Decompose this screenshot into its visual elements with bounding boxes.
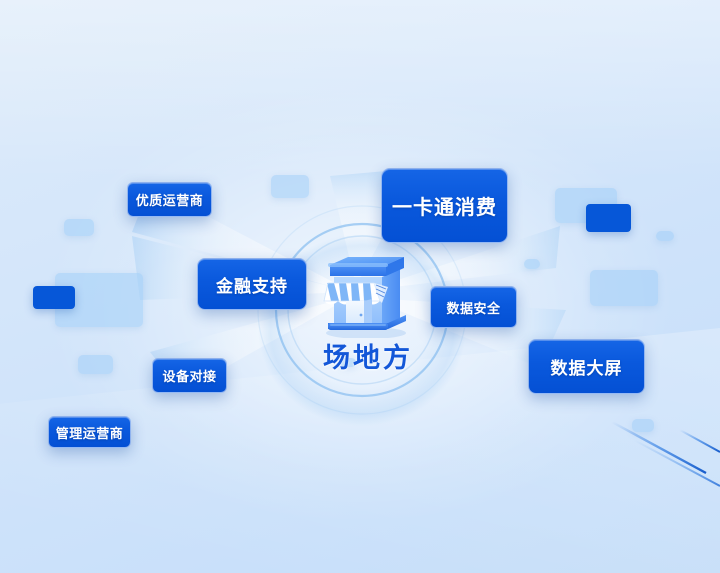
storefront-icon — [312, 243, 420, 338]
deco-rect-pale-6 — [656, 231, 674, 241]
deco-rect-pale-9 — [632, 419, 654, 432]
top-sheen — [0, 0, 720, 180]
chip-label-shuju-dapin: 数据大屏 — [551, 354, 623, 379]
deco-rect-pale-8 — [590, 270, 658, 306]
chip-label-youzhi-yunyingshang: 优质运营商 — [136, 190, 204, 209]
chip-shebei-duijie[interactable]: 设备对接 — [152, 358, 227, 393]
deco-rect-pale-7 — [524, 259, 540, 269]
deco-rect-pale-3 — [271, 175, 309, 198]
deco-rect-solid-1 — [33, 286, 75, 309]
deco-rect-pale-2 — [55, 273, 143, 327]
chip-jinrong-zhichi[interactable]: 金融支持 — [197, 258, 307, 310]
infographic-canvas: 场地方 一卡通消费金融支持优质运营商设备对接管理运营商数据安全数据大屏 — [0, 0, 720, 573]
deco-rect-solid-2 — [586, 204, 631, 232]
chip-label-guanli-yunyingshang: 管理运营商 — [56, 423, 124, 442]
chip-shuju-dapin[interactable]: 数据大屏 — [528, 339, 645, 394]
chip-guanli-yunyingshang[interactable]: 管理运营商 — [48, 416, 131, 448]
chip-label-jinrong-zhichi: 金融支持 — [216, 272, 288, 297]
chip-label-shuju-anquan: 数据安全 — [446, 298, 500, 317]
deco-rect-pale-1 — [64, 219, 94, 236]
chip-label-shebei-duijie: 设备对接 — [162, 366, 216, 385]
chip-youzhi-yunyingshang[interactable]: 优质运营商 — [127, 182, 212, 217]
chip-yikatong-xiaofei[interactable]: 一卡通消费 — [381, 168, 508, 243]
chip-shuju-anquan[interactable]: 数据安全 — [430, 286, 517, 328]
center-title-text: 场地方 — [307, 343, 413, 373]
deco-rect-pale-5 — [555, 188, 617, 223]
chip-label-yikatong-xiaofei: 一卡通消费 — [392, 191, 497, 220]
